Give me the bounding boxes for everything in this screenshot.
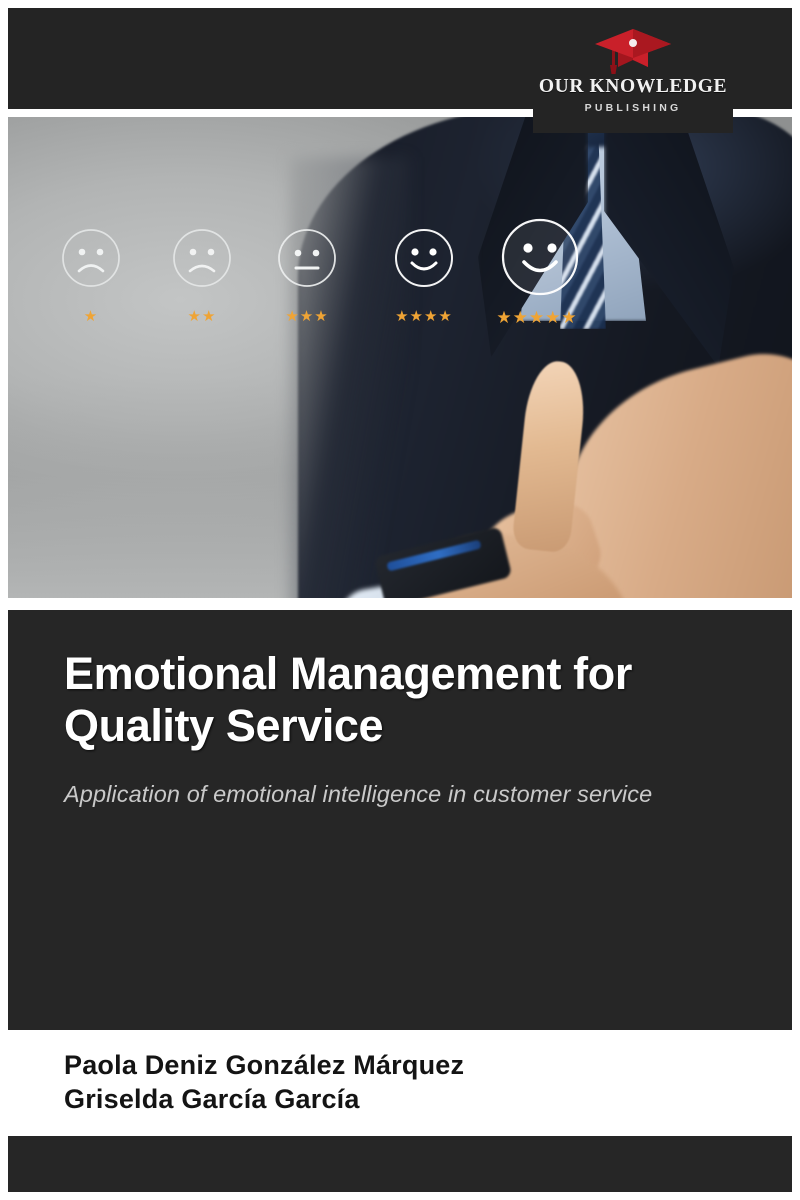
author-name-1: Paola Deniz González Márquez	[64, 1048, 736, 1082]
book-subtitle: Application of emotional intelligence in…	[64, 778, 736, 811]
author-name-2: Griselda García García	[64, 1082, 736, 1116]
publisher-logo-badge: OUR KNOWLEDGE PUBLISHING	[533, 8, 733, 133]
title-band: Emotional Management for Quality Service…	[8, 610, 792, 1030]
graduation-cap-icon	[594, 27, 672, 75]
bottom-band	[8, 1136, 792, 1192]
publisher-tagline: PUBLISHING	[585, 103, 682, 114]
suit-edge-shadow	[290, 157, 410, 598]
book-title: Emotional Management for Quality Service	[64, 648, 736, 752]
cover-photo: ★ ★★ ★★★	[8, 117, 792, 598]
book-cover: OUR KNOWLEDGE PUBLISHING	[0, 0, 800, 1200]
author-band: Paola Deniz González Márquez Griselda Ga…	[8, 1030, 792, 1130]
publisher-name: OUR KNOWLEDGE	[539, 77, 727, 97]
